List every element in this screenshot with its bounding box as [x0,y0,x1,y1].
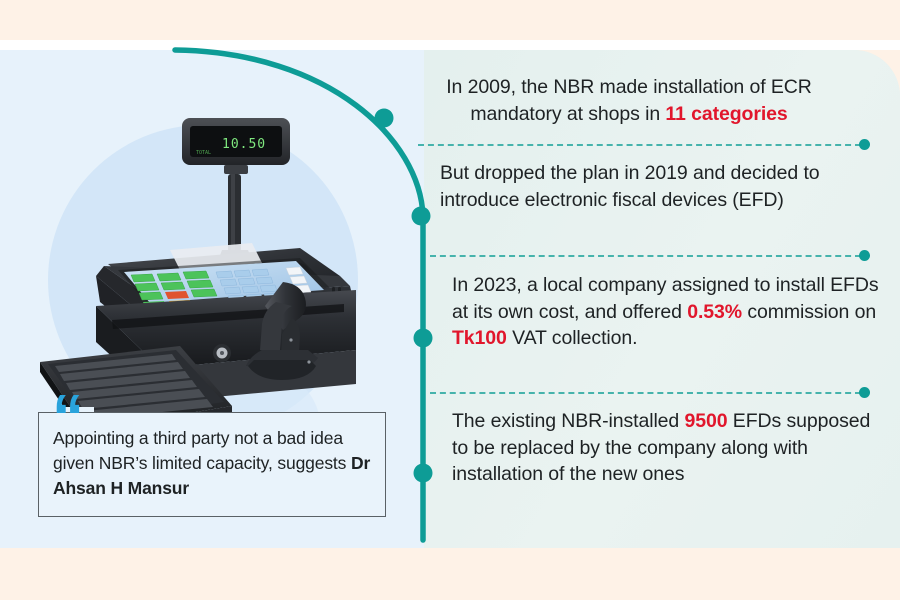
fact-3-highlight-amount: Tk100 [452,327,507,349]
fact-text-3: In 2023, a local company assigned to ins… [452,272,882,352]
fact-3-highlight-percent: 0.53% [687,301,742,323]
fact-text-4: The existing NBR-installed 9500 EFDs sup… [452,408,882,488]
fact-separator-dot-2 [859,250,870,261]
fact-text-2: But dropped the plan in 2019 and decided… [440,160,870,213]
quote-body: Appointing a third party not a bad idea … [53,428,351,473]
quote-card: Appointing a third party not a bad idea … [38,412,386,517]
fact-separator-dot-1 [859,139,870,150]
svg-text:TOTAL: TOTAL [196,150,211,156]
fact-1-highlight: 11 categories [665,103,787,125]
fact-3-part-4: VAT collection. [507,327,638,349]
fact-separator-3 [430,392,861,394]
fact-4-part-0: The existing NBR-installed [452,410,684,432]
fact-separator-1 [418,144,861,146]
quote-text: Appointing a third party not a bad idea … [53,426,375,501]
fact-2-part-0: But dropped the plan in 2019 and decided… [440,162,820,211]
fact-separator-2 [430,255,861,257]
fact-separator-dot-3 [859,387,870,398]
quotation-mark-icon: “ [52,388,82,446]
customer-display: 10.50 TOTAL [182,118,290,174]
top-white-divider [0,40,900,50]
fact-3-part-2: commission on [742,301,876,323]
fact-text-1: In 2009, the NBR made installation of EC… [399,74,859,127]
svg-text:10.50: 10.50 [222,137,266,152]
fact-4-highlight: 9500 [684,410,727,432]
infographic-canvas: 10.50 TOTAL [0,0,900,600]
